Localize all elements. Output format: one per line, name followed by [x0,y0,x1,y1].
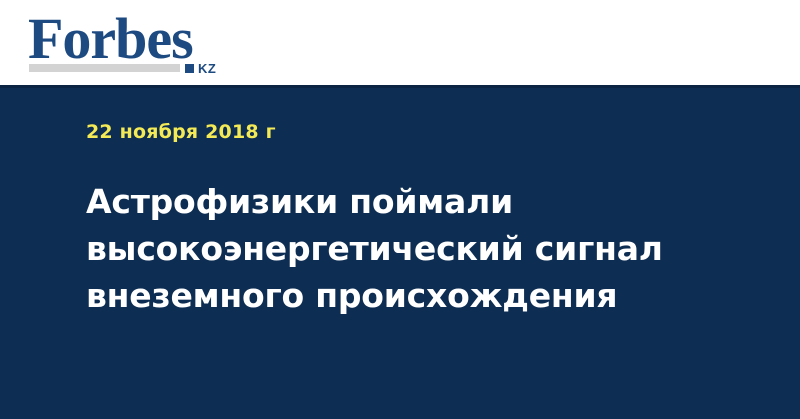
logo-square-icon [185,64,194,73]
forbes-kz-logo[interactable]: Forbes KZ [28,12,238,74]
article-date: 22 ноября 2018 г [86,120,726,144]
logo-gray-bar [29,64,180,72]
article-block: 22 ноября 2018 г Астрофизики поймали выс… [86,120,726,319]
article-headline[interactable]: Астрофизики поймали высокоэнергетический… [86,178,666,319]
site-header: Forbes KZ [0,0,800,85]
forbes-wordmark: Forbes [28,8,193,70]
logo-country-code: KZ [198,62,216,75]
article-cover-card: Forbes KZ 22 ноября 2018 г Астрофизики п… [0,0,800,419]
header-divider [0,85,800,88]
logo-underline-group: KZ [29,63,237,73]
